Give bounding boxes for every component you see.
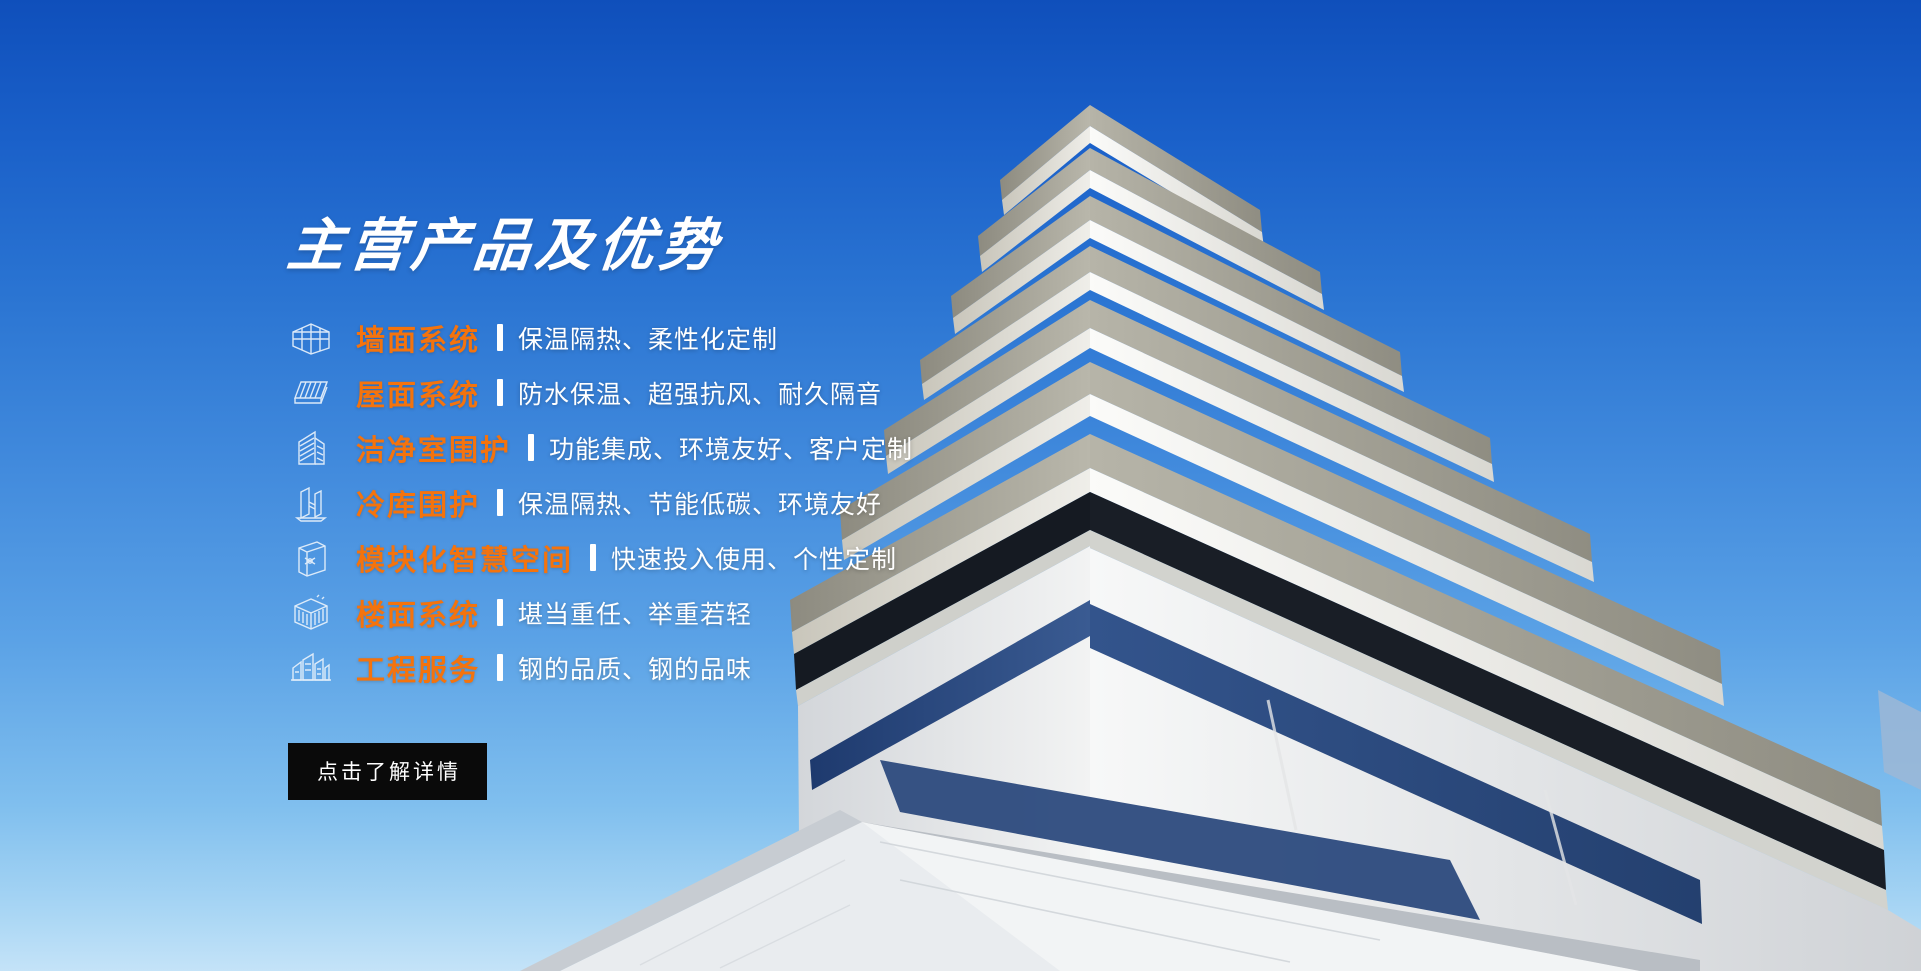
separator-bar — [497, 489, 503, 516]
product-row[interactable]: 楼面系统 堪当重任、举重若轻 — [288, 585, 1188, 640]
product-desc: 快速投入使用、个性定制 — [611, 540, 897, 576]
separator-bar — [497, 379, 503, 406]
cleanroom-icon — [288, 428, 334, 468]
product-row[interactable]: 屋面系统 防水保温、超强抗风、耐久隔音 — [288, 365, 1188, 420]
product-row[interactable]: 模块化智慧空间 快速投入使用、个性定制 — [288, 530, 1188, 585]
product-desc: 堪当重任、举重若轻 — [518, 595, 752, 631]
separator-bar — [497, 324, 503, 351]
product-name: 楼面系统 — [356, 592, 480, 634]
promo-banner: 主营产品及优势 墙面系统 保温隔热、柔性化定制 — [0, 0, 1921, 971]
product-row[interactable]: 冷库围护 保温隔热、节能低碳、环境友好 — [288, 475, 1188, 530]
product-list: 墙面系统 保温隔热、柔性化定制 屋面系统 防水保温、超强抗风、耐久隔音 — [288, 310, 1188, 695]
separator-bar — [497, 599, 503, 626]
page-title: 主营产品及优势 — [284, 200, 1193, 282]
product-desc: 功能集成、环境友好、客户定制 — [549, 430, 913, 466]
modular-space-icon — [288, 538, 334, 578]
adjacent-facade — [1878, 690, 1921, 790]
product-desc: 保温隔热、节能低碳、环境友好 — [518, 485, 882, 521]
product-name: 洁净室围护 — [356, 427, 511, 469]
product-row[interactable]: 墙面系统 保温隔热、柔性化定制 — [288, 310, 1188, 365]
separator-bar — [590, 544, 596, 571]
product-row[interactable]: 洁净室围护 功能集成、环境友好、客户定制 — [288, 420, 1188, 475]
learn-more-button[interactable]: 点击了解详情 — [288, 743, 487, 800]
wall-system-icon — [288, 318, 334, 358]
product-desc: 保温隔热、柔性化定制 — [518, 320, 778, 356]
roof-system-icon — [288, 373, 334, 413]
product-name: 模块化智慧空间 — [356, 537, 573, 579]
product-desc: 防水保温、超强抗风、耐久隔音 — [518, 375, 882, 411]
floor-system-icon — [288, 593, 334, 633]
coldstorage-icon — [288, 483, 334, 523]
product-desc: 钢的品质、钢的品味 — [518, 650, 752, 686]
product-name: 冷库围护 — [356, 482, 480, 524]
separator-bar — [528, 434, 534, 461]
banner-content: 主营产品及优势 墙面系统 保温隔热、柔性化定制 — [288, 200, 1188, 800]
product-name: 屋面系统 — [356, 372, 480, 414]
product-name: 工程服务 — [356, 647, 480, 689]
product-row[interactable]: 工程服务 钢的品质、钢的品味 — [288, 640, 1188, 695]
engineering-icon — [288, 648, 334, 688]
separator-bar — [497, 654, 503, 681]
product-name: 墙面系统 — [356, 317, 480, 359]
